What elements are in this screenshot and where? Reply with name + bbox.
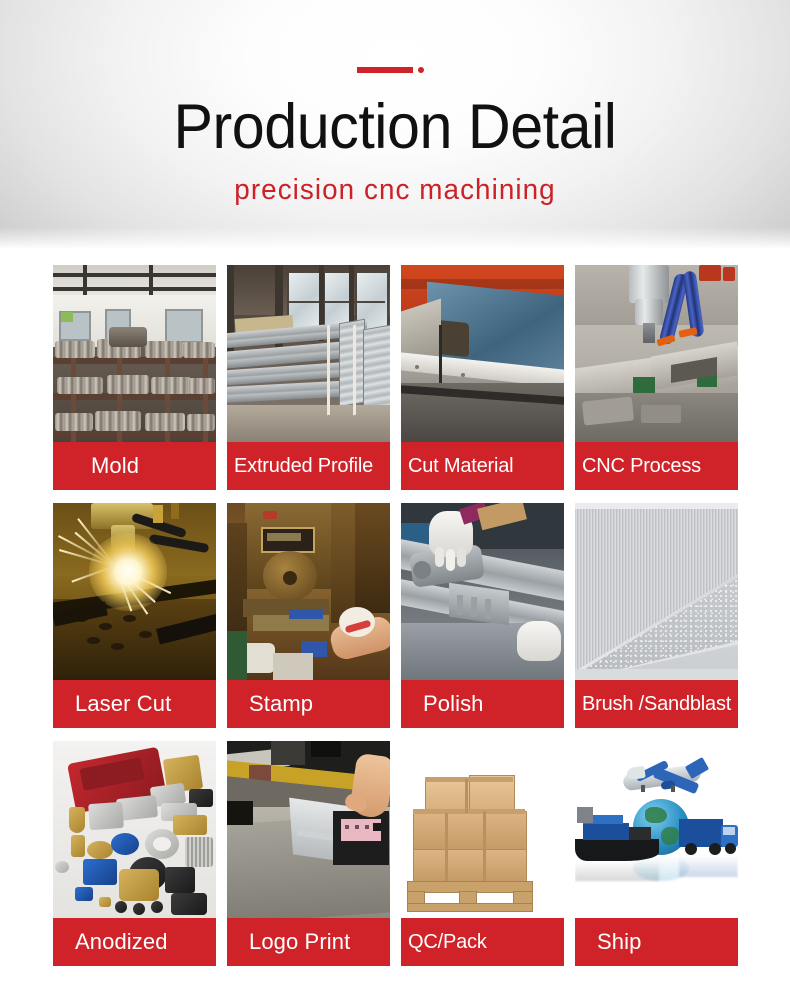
process-tile-extruded-profile[interactable]: Extruded Profile xyxy=(227,265,390,490)
tile-caption: Polish xyxy=(401,680,564,728)
process-tile-laser-cut[interactable]: Laser Cut xyxy=(53,503,216,728)
process-tile-polish[interactable]: Polish xyxy=(401,503,564,728)
process-tile-ship[interactable]: Ship xyxy=(575,741,738,966)
accent-dash-icon xyxy=(357,67,413,73)
ship-image xyxy=(575,741,738,918)
page-subtitle: precision cnc machining xyxy=(16,172,774,208)
tile-caption: QC/Pack xyxy=(401,918,564,966)
laser-cut-image xyxy=(53,503,216,680)
tile-caption: Anodized xyxy=(53,918,216,966)
tile-caption: Mold xyxy=(53,442,216,490)
qc-pack-image xyxy=(401,741,564,918)
process-tile-qc-pack[interactable]: QC/Pack xyxy=(401,741,564,966)
process-tile-brush-sandblast[interactable]: Brush /Sandblast xyxy=(575,503,738,728)
process-tile-stamp[interactable]: Stamp xyxy=(227,503,390,728)
tile-caption: Ship xyxy=(575,918,738,966)
production-detail-banner: Production Detail precision cnc machinin… xyxy=(0,0,790,1007)
mold-image xyxy=(53,265,216,442)
cut-material-image xyxy=(401,265,564,442)
tile-caption: Extruded Profile xyxy=(227,442,390,490)
process-tile-logo-print[interactable]: Logo Print xyxy=(227,741,390,966)
process-tile-cut-material[interactable]: Cut Material xyxy=(401,265,564,490)
tile-caption: Laser Cut xyxy=(53,680,216,728)
process-tile-mold[interactable]: Mold xyxy=(53,265,216,490)
process-tile-cnc-process[interactable]: CNC Process xyxy=(575,265,738,490)
banner-header: Production Detail precision cnc machinin… xyxy=(0,0,790,253)
process-tile-anodized[interactable]: Anodized xyxy=(53,741,216,966)
tile-caption: CNC Process xyxy=(575,442,738,490)
page-title: Production Detail xyxy=(24,92,767,162)
tile-caption: Cut Material xyxy=(401,442,564,490)
tile-caption: Stamp xyxy=(227,680,390,728)
anodized-image xyxy=(53,741,216,918)
tile-caption: Logo Print xyxy=(227,918,390,966)
accent-dot-icon xyxy=(418,67,424,73)
cnc-process-image xyxy=(575,265,738,442)
logo-print-image xyxy=(227,741,390,918)
extruded-profile-image xyxy=(227,265,390,442)
polish-image xyxy=(401,503,564,680)
stamp-image xyxy=(227,503,390,680)
process-grid: Mold xyxy=(53,265,739,966)
brush-sandblast-image xyxy=(575,503,738,680)
tile-caption: Brush /Sandblast xyxy=(575,680,738,728)
